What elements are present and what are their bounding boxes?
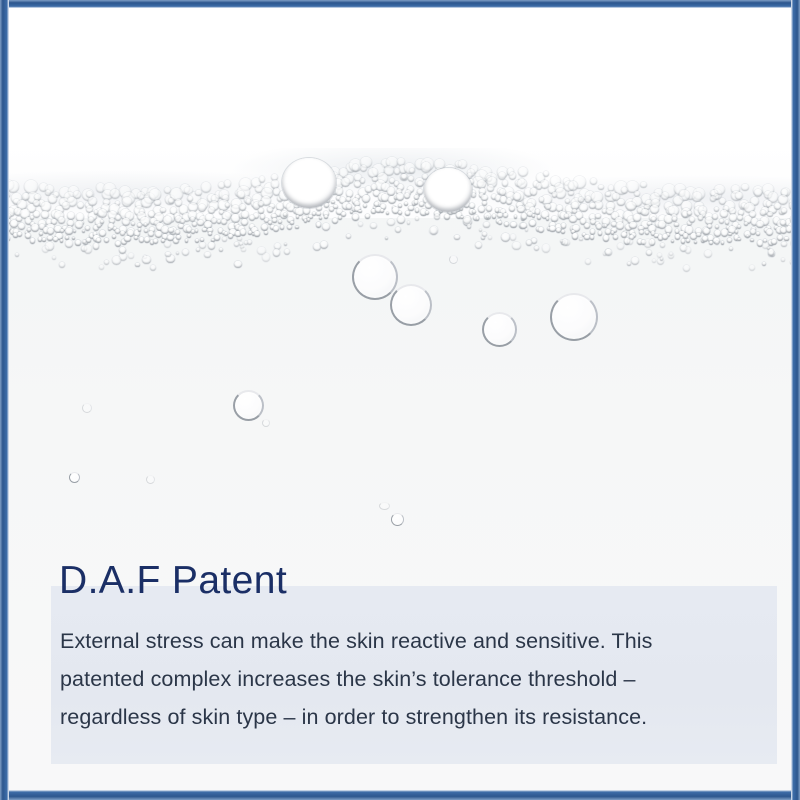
foam-bubble bbox=[204, 252, 210, 258]
foam-bubble bbox=[124, 236, 131, 243]
foam-bubble bbox=[549, 226, 556, 233]
foam-bubble bbox=[613, 235, 618, 240]
foam-bubble bbox=[398, 204, 402, 208]
foam-bubble bbox=[698, 215, 704, 221]
foam-bubble bbox=[645, 231, 649, 235]
foam-bubble bbox=[539, 197, 545, 203]
foam-bubble bbox=[517, 206, 524, 213]
foam-bubble bbox=[18, 223, 25, 230]
foam-bubble bbox=[182, 249, 189, 256]
foam-bubble bbox=[415, 217, 418, 220]
foam-bubble bbox=[65, 228, 72, 235]
foam-bubble bbox=[744, 222, 748, 226]
foam-bubble bbox=[138, 228, 142, 232]
foam-bubble bbox=[790, 260, 791, 265]
foam-bubble bbox=[39, 232, 43, 236]
foam-bubble bbox=[100, 220, 104, 224]
foam-bubble bbox=[590, 235, 594, 239]
foam-bubble bbox=[737, 238, 741, 242]
foam-bubble bbox=[41, 211, 49, 219]
foam-bubble bbox=[221, 219, 227, 225]
foam-bubble bbox=[719, 219, 724, 224]
foam-bubble bbox=[495, 208, 499, 212]
foam-bubble bbox=[324, 215, 328, 219]
foam-bubble bbox=[77, 202, 84, 209]
foam-bubble bbox=[15, 253, 19, 257]
foam-bubble bbox=[394, 168, 400, 174]
foam-bubble bbox=[234, 261, 242, 269]
foam-bubble bbox=[568, 191, 573, 196]
foam-bubble bbox=[262, 253, 270, 261]
bubble-j bbox=[262, 419, 270, 427]
foam-bubble bbox=[476, 217, 479, 220]
foam-bubble bbox=[458, 160, 467, 169]
foam-bubble bbox=[561, 223, 566, 228]
foam-bubble bbox=[75, 240, 80, 245]
foam-bubble bbox=[521, 213, 527, 219]
foam-bubble bbox=[650, 205, 659, 214]
foam-bubble bbox=[65, 236, 69, 240]
foam-bubble bbox=[720, 210, 727, 217]
foam-bubble bbox=[346, 204, 352, 210]
foam-bubble bbox=[59, 262, 65, 268]
foam-bubble bbox=[240, 229, 247, 236]
foam-bubble bbox=[84, 245, 92, 253]
foam-bubble bbox=[709, 241, 713, 245]
foam-bubble bbox=[487, 185, 493, 191]
foam-bubble bbox=[596, 224, 602, 230]
foam-bubble bbox=[750, 229, 756, 235]
foam-bubble bbox=[272, 218, 276, 222]
foam-bubble bbox=[617, 243, 624, 250]
foam-bubble bbox=[681, 239, 685, 243]
foam-bubble bbox=[646, 250, 652, 256]
foam-bubble bbox=[530, 188, 538, 196]
bubble-b bbox=[390, 284, 432, 326]
foam-bubble bbox=[154, 200, 160, 206]
foam-bubble bbox=[273, 226, 279, 232]
foam-bubble bbox=[492, 214, 496, 218]
foam-bubble bbox=[687, 211, 692, 216]
foam-bubble bbox=[374, 202, 379, 207]
bubble-h bbox=[82, 403, 92, 413]
foam-bubble bbox=[53, 237, 58, 242]
foam-bubble bbox=[534, 246, 539, 251]
foam-bubble bbox=[396, 193, 404, 201]
foam-bubble bbox=[715, 241, 719, 245]
foam-bubble bbox=[75, 221, 83, 229]
foam-bubble bbox=[9, 181, 19, 193]
foam-bubble bbox=[60, 229, 64, 233]
foam-bubble bbox=[190, 217, 195, 222]
foam-bubble bbox=[444, 214, 450, 220]
foam-bubble bbox=[671, 240, 674, 243]
foam-bubble bbox=[483, 222, 489, 228]
foam-bubble bbox=[781, 208, 787, 214]
foam-bubble bbox=[417, 189, 423, 195]
foam-bubble bbox=[542, 244, 551, 253]
bubble-a bbox=[352, 254, 398, 300]
foam-bubble bbox=[287, 225, 292, 230]
foam-bubble bbox=[264, 231, 268, 235]
foam-bubble bbox=[715, 225, 719, 229]
foam-band bbox=[9, 148, 791, 243]
foam-bubble bbox=[150, 265, 156, 271]
foam-bubble bbox=[503, 213, 508, 218]
foam-bubble bbox=[346, 197, 351, 202]
foam-bubble bbox=[96, 238, 101, 243]
foam-bubble bbox=[633, 214, 641, 222]
foam-bubble bbox=[598, 231, 603, 236]
foam-bubble bbox=[603, 235, 609, 241]
foam-bubble bbox=[781, 258, 785, 262]
foam-bubble bbox=[122, 197, 132, 207]
foam-bubble bbox=[729, 214, 737, 222]
foam-bubble bbox=[617, 199, 624, 206]
foam-bubble bbox=[168, 228, 174, 234]
bubble-l bbox=[449, 255, 458, 264]
foam-bubble bbox=[531, 238, 537, 244]
foam-bubble bbox=[88, 197, 97, 206]
foam-bubble bbox=[616, 222, 624, 230]
foam-bubble bbox=[683, 233, 688, 238]
foam-bubble bbox=[414, 200, 418, 204]
foam-bubble bbox=[97, 224, 101, 228]
foam-bubble bbox=[417, 181, 423, 187]
foam-bubble bbox=[119, 247, 126, 254]
foam-bubble bbox=[725, 220, 729, 224]
foam-bubble bbox=[155, 231, 162, 238]
foam-bubble bbox=[52, 256, 56, 260]
foam-bubble bbox=[714, 230, 721, 237]
foam-bubble bbox=[228, 234, 233, 239]
foam-bubble bbox=[721, 241, 724, 244]
foam-bubble bbox=[195, 229, 198, 232]
foam-bubble bbox=[234, 242, 239, 247]
bubble-f bbox=[69, 472, 80, 483]
foam-bubble bbox=[513, 193, 521, 201]
foam-bubble bbox=[482, 232, 487, 237]
bubble-k bbox=[379, 502, 390, 510]
foam-bubble bbox=[142, 256, 150, 264]
foam-bubble bbox=[652, 259, 656, 263]
foam-bubble bbox=[674, 223, 679, 228]
foam-bubble bbox=[631, 257, 639, 265]
frame-border-bottom bbox=[0, 790, 800, 800]
foam-bubble bbox=[454, 235, 459, 240]
foam-bubble bbox=[273, 249, 281, 257]
foam-bubble bbox=[214, 235, 220, 241]
foam-bubble bbox=[404, 202, 408, 206]
foam-bubble bbox=[341, 212, 346, 217]
foam-bubble bbox=[401, 174, 407, 180]
foam-bubble bbox=[352, 164, 360, 172]
foam-bubble bbox=[512, 242, 521, 251]
foam-bubble bbox=[467, 224, 471, 228]
foam-bubble bbox=[660, 257, 663, 260]
bubble-c bbox=[482, 312, 517, 347]
foam-bubble bbox=[501, 233, 510, 242]
foam-bubble bbox=[187, 234, 191, 238]
foam-bubble bbox=[756, 232, 760, 236]
foam-bubble bbox=[790, 215, 791, 224]
foam-bubble bbox=[498, 172, 506, 180]
foam-bubble bbox=[42, 246, 49, 253]
foam-bubble bbox=[502, 180, 508, 186]
foam-bubble bbox=[267, 207, 273, 213]
foam-bubble bbox=[696, 233, 701, 238]
foam-bubble bbox=[754, 189, 762, 197]
foam-bubble bbox=[197, 220, 203, 226]
foam-bubble bbox=[249, 215, 255, 221]
foam-bubble bbox=[110, 189, 120, 199]
foam-bubble bbox=[605, 192, 611, 198]
foam-bubble bbox=[296, 215, 300, 219]
foam-bubble bbox=[222, 237, 227, 242]
foam-bubble bbox=[579, 204, 587, 212]
foam-bubble bbox=[626, 202, 635, 211]
foam-bubble bbox=[303, 207, 311, 215]
bubble-g bbox=[391, 513, 404, 526]
bubble-i bbox=[146, 475, 155, 484]
foam-bubble bbox=[598, 185, 604, 191]
foam-bubble bbox=[316, 222, 322, 228]
foam-bubble bbox=[112, 235, 116, 239]
foam-bubble bbox=[295, 226, 298, 229]
foam-bubble bbox=[472, 210, 476, 214]
foam-bubble bbox=[605, 229, 611, 235]
foam-bubble bbox=[749, 265, 755, 271]
foam-bubble bbox=[407, 221, 411, 225]
product-feature-card: D.A.F Patent External stress can make th… bbox=[0, 0, 800, 800]
foam-bubble bbox=[475, 242, 482, 249]
caption-body-text: External stress can make the skin reacti… bbox=[60, 622, 732, 736]
foam-large-bubble-right bbox=[424, 168, 472, 212]
foam-bubble bbox=[176, 235, 181, 240]
foam-bubble bbox=[545, 204, 551, 210]
foam-bubble bbox=[741, 184, 748, 191]
foam-bubble bbox=[605, 249, 611, 255]
foam-bubble bbox=[196, 248, 200, 252]
foam-bubble bbox=[33, 211, 40, 218]
frame-border-top bbox=[0, 0, 800, 8]
foam-bubble bbox=[93, 243, 99, 249]
foam-bubble bbox=[122, 218, 130, 226]
foam-bubble bbox=[259, 176, 266, 183]
foam-bubble bbox=[86, 238, 91, 243]
foam-bubble bbox=[237, 237, 241, 241]
foam-bubble bbox=[504, 222, 509, 227]
foam-bubble bbox=[590, 178, 597, 185]
foam-bubble bbox=[27, 228, 31, 232]
foam-bubble bbox=[565, 199, 570, 204]
foam-bubble bbox=[244, 241, 248, 245]
foam-bubble bbox=[99, 265, 104, 270]
bubble-e bbox=[233, 390, 264, 421]
foam-bubble bbox=[486, 216, 490, 220]
foam-bubble bbox=[727, 238, 732, 243]
foam-bubble bbox=[60, 239, 64, 243]
foam-bubble bbox=[352, 214, 358, 220]
foam-bubble bbox=[564, 214, 569, 219]
foam-bubble bbox=[187, 196, 193, 202]
foam-bubble bbox=[195, 239, 199, 243]
foam-bubble bbox=[685, 247, 691, 253]
foam-bubble bbox=[329, 207, 334, 212]
foam-bubble bbox=[112, 256, 121, 265]
page-title: D.A.F Patent bbox=[59, 558, 287, 604]
foam-bubble bbox=[552, 192, 557, 197]
bubble-d bbox=[550, 293, 598, 341]
foam-bubble bbox=[82, 240, 86, 244]
foam-bubble bbox=[692, 192, 702, 202]
foam-bubble bbox=[784, 237, 788, 241]
foam-bubble bbox=[224, 180, 231, 187]
foam-bubble bbox=[241, 248, 246, 253]
foam-bubble bbox=[360, 178, 365, 183]
foam-large-bubble-left bbox=[282, 158, 336, 208]
foam-bubble bbox=[569, 216, 577, 224]
foam-bubble bbox=[509, 172, 517, 180]
foam-bubble bbox=[683, 265, 690, 272]
frame-border-left bbox=[0, 0, 9, 800]
foam-bubble bbox=[341, 178, 350, 187]
foam-bubble bbox=[160, 208, 165, 213]
foam-bubble bbox=[415, 208, 419, 212]
foam-bubble bbox=[128, 253, 134, 259]
frame-border-right bbox=[791, 0, 800, 800]
foam-bubble bbox=[202, 228, 206, 232]
foam-bubble bbox=[254, 231, 259, 236]
foam-bubble bbox=[497, 213, 503, 219]
foam-bubble bbox=[201, 182, 212, 193]
foam-bubble bbox=[672, 217, 676, 221]
foam-bubble bbox=[104, 238, 109, 243]
foam-bubble bbox=[99, 230, 106, 237]
foam-bubble bbox=[405, 211, 410, 216]
foam-bubble bbox=[358, 222, 363, 227]
foam-bubble bbox=[584, 223, 590, 229]
foam-bubble bbox=[506, 198, 512, 204]
foam-bubble bbox=[786, 226, 791, 232]
foam-bubble bbox=[335, 187, 343, 195]
foam-bubble bbox=[556, 228, 561, 233]
foam-bubble bbox=[195, 190, 201, 196]
foam-bubble bbox=[362, 195, 370, 203]
foam-bubble bbox=[568, 181, 578, 191]
foam-bubble bbox=[526, 240, 532, 246]
foam-bubble bbox=[365, 214, 370, 219]
foam-bubble bbox=[307, 218, 310, 221]
foam-bubble bbox=[280, 225, 285, 230]
foam-bubble bbox=[627, 239, 633, 245]
foam-bubble bbox=[669, 252, 673, 256]
foam-bubble bbox=[469, 203, 475, 209]
foam-bubble bbox=[42, 238, 46, 242]
foam-bubble bbox=[324, 203, 329, 208]
foam-bubble bbox=[58, 217, 64, 223]
foam-bubble bbox=[529, 220, 536, 227]
foam-bubble bbox=[120, 231, 125, 236]
foam-bubble bbox=[258, 208, 263, 213]
foam-bubble bbox=[760, 210, 766, 216]
